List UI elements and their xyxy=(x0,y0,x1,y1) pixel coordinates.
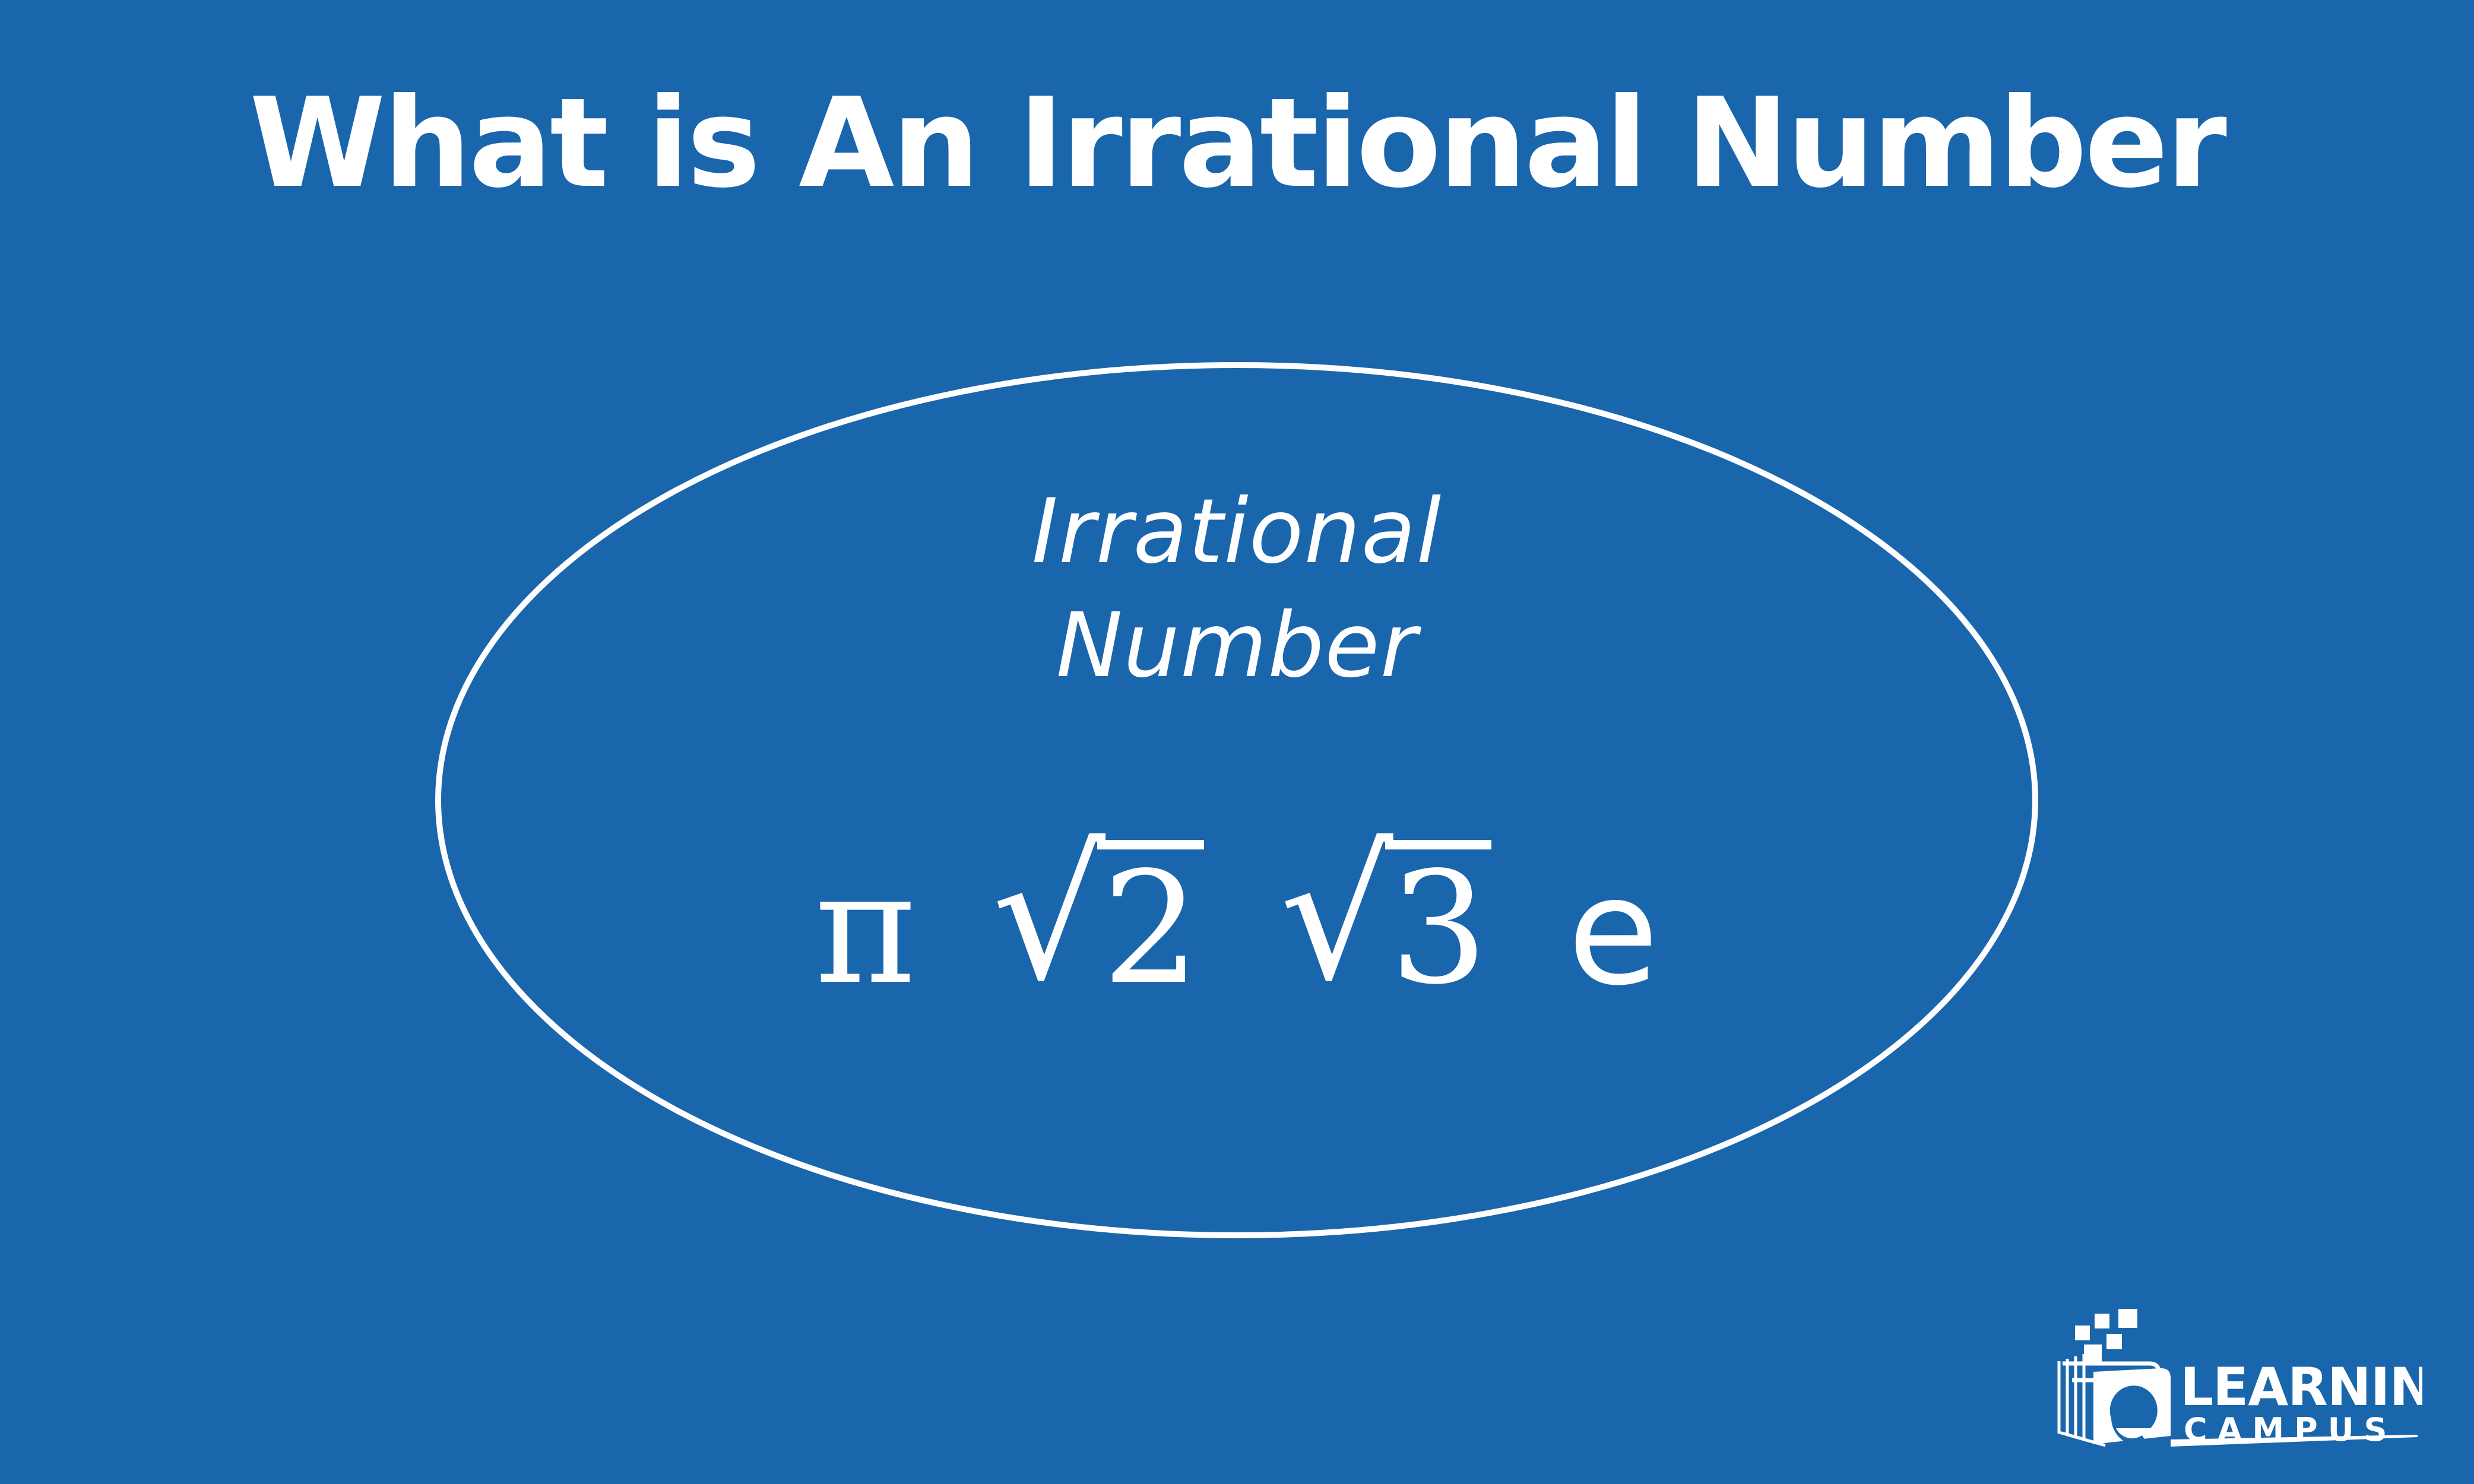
set-ellipse xyxy=(0,0,2474,1484)
set-member-pi: π xyxy=(815,852,916,1006)
slide-canvas: What is An Irrational Number Irrational … xyxy=(0,0,2474,1484)
page-title: What is An Irrational Number xyxy=(0,77,2474,211)
set-member-sqrt2: √ 2 xyxy=(992,840,1204,1006)
brand-logo[interactable]: LEARNING CAMPUS xyxy=(2054,1297,2422,1457)
logo-word-campus: CAMPUS xyxy=(2184,1411,2397,1448)
set-label-line-2: Number xyxy=(436,589,2037,703)
radical-sign-icon: √ xyxy=(992,840,1105,993)
set-label: Irrational Number xyxy=(436,475,2037,703)
set-label-line-1: Irrational xyxy=(436,475,2037,589)
radicand-2: 2 xyxy=(1097,840,1203,1006)
set-member-e: e xyxy=(1567,858,1659,1006)
set-member-sqrt3: √ 3 xyxy=(1280,840,1492,1006)
set-members-row: π √ 2 √ 3 e xyxy=(436,840,2037,1006)
radicand-3: 3 xyxy=(1385,840,1491,1006)
radical-sign-icon: √ xyxy=(1280,840,1393,993)
logo-word-learning: LEARNING xyxy=(2180,1356,2422,1418)
